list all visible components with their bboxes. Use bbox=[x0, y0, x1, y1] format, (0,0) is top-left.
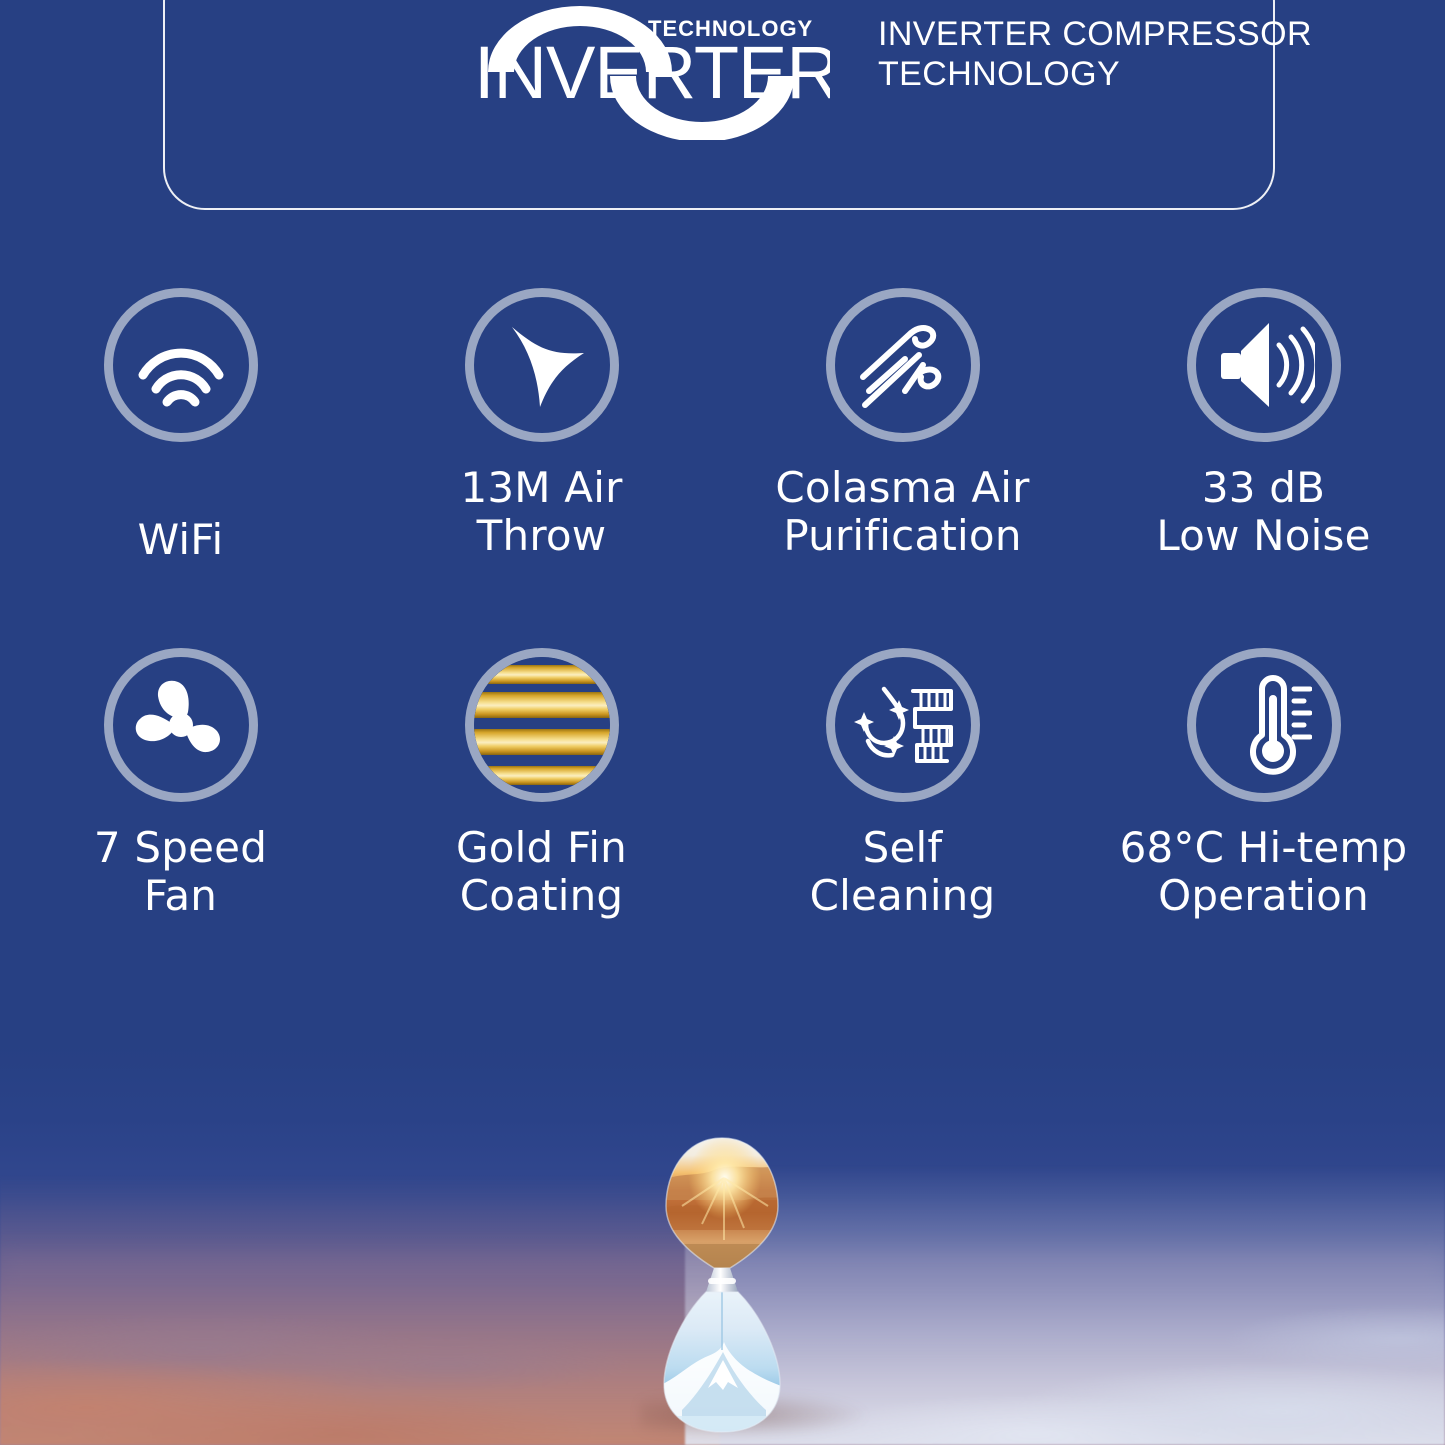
feature-label: 68°C Hi-temp Operation bbox=[1120, 824, 1408, 920]
speaker-icon bbox=[1213, 315, 1315, 415]
feature-air-purification[interactable]: Colasma Air Purification bbox=[722, 288, 1083, 564]
fan-speed-badge bbox=[104, 648, 258, 802]
feature-fan-speed[interactable]: 7 Speed Fan bbox=[0, 648, 361, 920]
air-purification-badge bbox=[826, 288, 980, 442]
header-caption: INVERTER COMPRESSOR TECHNOLOGY bbox=[878, 14, 1398, 94]
feature-label: 7 Speed Fan bbox=[94, 824, 267, 920]
wifi-icon bbox=[129, 313, 233, 417]
svg-text:TECHNOLOGY: TECHNOLOGY bbox=[648, 16, 813, 41]
feature-row-2: 7 Speed Fan Gold Fin Coating bbox=[0, 648, 1445, 920]
feature-label: WiFi bbox=[138, 516, 224, 564]
feature-label: 13M Air Throw bbox=[460, 464, 622, 560]
hi-temp-badge bbox=[1187, 648, 1341, 802]
feature-wifi[interactable]: WiFi bbox=[0, 288, 361, 564]
feature-self-cleaning[interactable]: Self Cleaning bbox=[722, 648, 1083, 920]
self-cleaning-icon bbox=[851, 679, 955, 771]
feature-label: Colasma Air Purification bbox=[775, 464, 1029, 560]
air-throw-icon bbox=[492, 315, 592, 415]
thermometer-icon bbox=[1216, 673, 1312, 777]
gold-fin-badge bbox=[465, 648, 619, 802]
svg-text:INVERTER: INVERTER bbox=[474, 31, 830, 114]
air-throw-badge bbox=[465, 288, 619, 442]
fan-icon bbox=[130, 674, 232, 776]
feature-row-1: WiFi 13M Air Throw bbox=[0, 288, 1445, 564]
self-cleaning-badge bbox=[826, 648, 980, 802]
poster-canvas: INVERTER TECHNOLOGY INVERTER COMPRESSOR … bbox=[0, 0, 1445, 1445]
gold-fin-icon bbox=[474, 657, 610, 793]
feature-grid: WiFi 13M Air Throw bbox=[0, 288, 1445, 920]
header-caption-line2: TECHNOLOGY bbox=[878, 54, 1398, 94]
feature-label: 33 dB Low Noise bbox=[1156, 464, 1370, 560]
feature-label: Gold Fin Coating bbox=[456, 824, 627, 920]
hourglass-illustration bbox=[652, 1120, 792, 1440]
low-noise-badge bbox=[1187, 288, 1341, 442]
feature-hi-temp[interactable]: 68°C Hi-temp Operation bbox=[1083, 648, 1444, 920]
header-caption-line1: INVERTER COMPRESSOR bbox=[878, 14, 1398, 54]
header-badge: INVERTER TECHNOLOGY INVERTER COMPRESSOR … bbox=[163, 0, 1275, 210]
air-purification-icon bbox=[853, 315, 953, 415]
feature-low-noise[interactable]: 33 dB Low Noise bbox=[1083, 288, 1444, 564]
feature-gold-fin[interactable]: Gold Fin Coating bbox=[361, 648, 722, 920]
feature-label: Self Cleaning bbox=[810, 824, 996, 920]
wifi-badge bbox=[104, 288, 258, 442]
feature-air-throw[interactable]: 13M Air Throw bbox=[361, 288, 722, 564]
inverter-technology-logo: INVERTER TECHNOLOGY bbox=[470, 0, 830, 140]
desert-dunes bbox=[0, 1175, 720, 1445]
